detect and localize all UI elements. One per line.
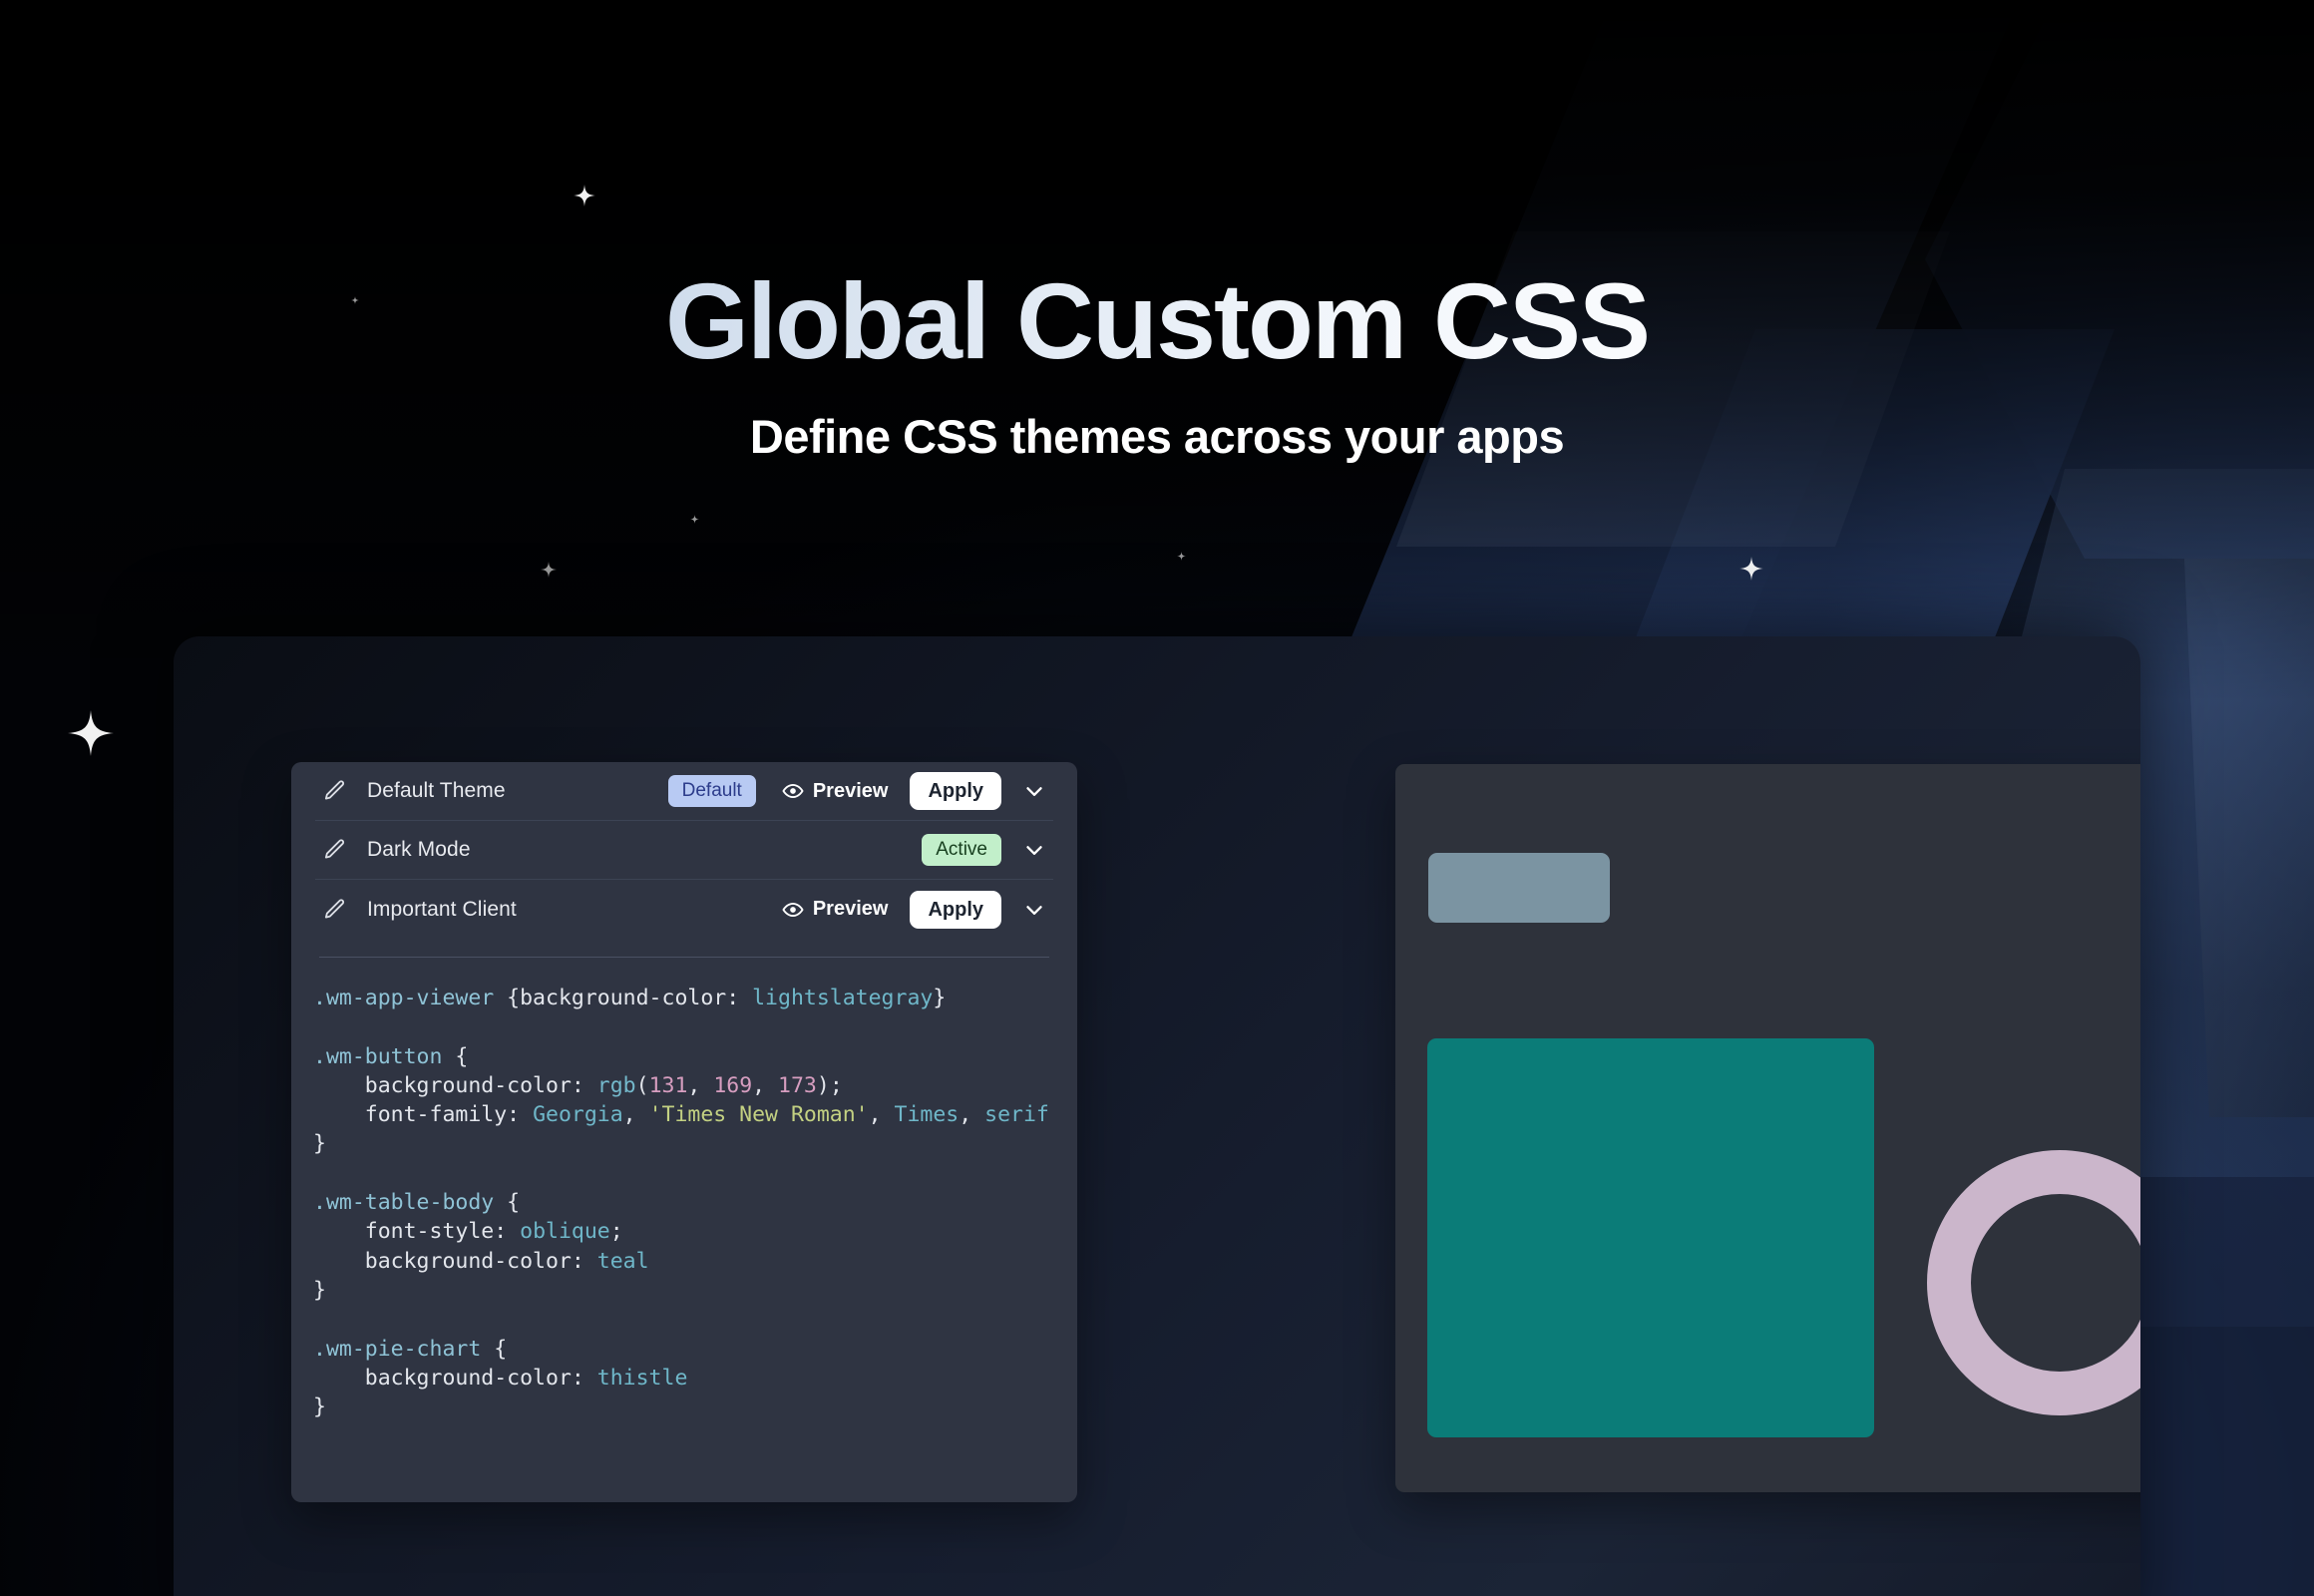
code-token: lightslategray xyxy=(752,986,933,1010)
code-token: .wm-app-viewer xyxy=(313,986,494,1010)
eye-icon xyxy=(782,899,804,921)
pencil-icon[interactable] xyxy=(321,778,347,804)
code-token: } xyxy=(313,1278,326,1303)
theme-row[interactable]: Dark ModeActive xyxy=(315,821,1053,880)
code-token: : xyxy=(507,1102,533,1127)
chevron-down-icon[interactable] xyxy=(1021,897,1047,923)
code-token: { xyxy=(494,986,520,1010)
theme-row[interactable]: Default ThemeDefaultPreviewApply xyxy=(315,762,1053,821)
page-title: Global Custom CSS xyxy=(0,267,2314,375)
code-token: , xyxy=(687,1073,713,1098)
code-token: { xyxy=(481,1337,507,1362)
themes-card: Default ThemeDefaultPreviewApplyDark Mod… xyxy=(291,762,1077,1502)
apply-button[interactable]: Apply xyxy=(910,772,1001,810)
code-token: 131 xyxy=(649,1073,688,1098)
status-badge: Active xyxy=(922,834,1001,866)
code-token: rgb xyxy=(597,1073,636,1098)
css-code-editor[interactable]: .wm-app-viewer {background-color: lights… xyxy=(291,958,1077,1421)
preview-wm-pie-chart xyxy=(1927,1150,2140,1415)
code-token: background-color xyxy=(313,1249,572,1274)
code-token: } xyxy=(313,1395,326,1419)
code-token: Georgia xyxy=(533,1102,623,1127)
code-token: thistle xyxy=(597,1366,688,1391)
code-token: background-color xyxy=(313,1366,572,1391)
code-token: , xyxy=(752,1073,778,1098)
pencil-icon[interactable] xyxy=(321,837,347,863)
chevron-down-icon[interactable] xyxy=(1021,778,1047,804)
theme-name-label: Default Theme xyxy=(367,779,506,803)
code-token: ( xyxy=(636,1073,649,1098)
code-token: } xyxy=(933,986,946,1010)
code-token: , xyxy=(959,1102,984,1127)
app-panel: Default ThemeDefaultPreviewApplyDark Mod… xyxy=(174,636,2140,1596)
preview-button-label: Preview xyxy=(813,780,889,803)
code-token: .wm-table-body xyxy=(313,1190,494,1215)
code-token: } xyxy=(313,1131,326,1156)
code-token: : xyxy=(572,1073,597,1098)
code-token: ; xyxy=(610,1219,623,1244)
theme-name-label: Dark Mode xyxy=(367,838,471,862)
code-token: , xyxy=(623,1102,649,1127)
code-token: .wm-pie-chart xyxy=(313,1337,481,1362)
code-token: { xyxy=(494,1190,520,1215)
preview-button[interactable]: Preview xyxy=(782,780,889,803)
code-token: 173 xyxy=(778,1073,817,1098)
code-token: oblique xyxy=(520,1219,610,1244)
code-token: background-color xyxy=(313,1073,572,1098)
theme-name-label: Important Client xyxy=(367,898,517,922)
code-token: : xyxy=(572,1366,597,1391)
code-token: serif xyxy=(984,1102,1049,1127)
preview-button-label: Preview xyxy=(813,898,889,921)
code-token: 'Times New Roman' xyxy=(649,1102,869,1127)
code-token: { xyxy=(442,1044,468,1069)
code-token: .wm-button xyxy=(313,1044,442,1069)
theme-row[interactable]: Important ClientPreviewApply xyxy=(315,880,1053,939)
preview-wm-button xyxy=(1428,853,1610,923)
hero-section: Global Custom CSS Define CSS themes acro… xyxy=(0,0,2314,464)
code-token: 169 xyxy=(713,1073,752,1098)
code-token: ); xyxy=(817,1073,843,1098)
preview-wm-table-body xyxy=(1427,1038,1874,1437)
chevron-down-icon[interactable] xyxy=(1021,837,1047,863)
preview-button[interactable]: Preview xyxy=(782,898,889,921)
code-token: font-style xyxy=(313,1219,494,1244)
code-token: : xyxy=(494,1219,520,1244)
code-token: : xyxy=(726,986,752,1010)
status-badge: Default xyxy=(668,775,756,807)
pencil-icon[interactable] xyxy=(321,897,347,923)
code-token: background-color xyxy=(520,986,726,1010)
code-token: Times xyxy=(895,1102,960,1127)
apply-button[interactable]: Apply xyxy=(910,891,1001,929)
code-token: teal xyxy=(597,1249,649,1274)
code-token: font-family xyxy=(313,1102,507,1127)
page-subtitle: Define CSS themes across your apps xyxy=(0,409,2314,464)
code-token: , xyxy=(869,1102,895,1127)
theme-list: Default ThemeDefaultPreviewApplyDark Mod… xyxy=(291,762,1077,939)
eye-icon xyxy=(782,780,804,802)
code-token: : xyxy=(572,1249,597,1274)
theme-preview-card xyxy=(1395,764,2140,1492)
